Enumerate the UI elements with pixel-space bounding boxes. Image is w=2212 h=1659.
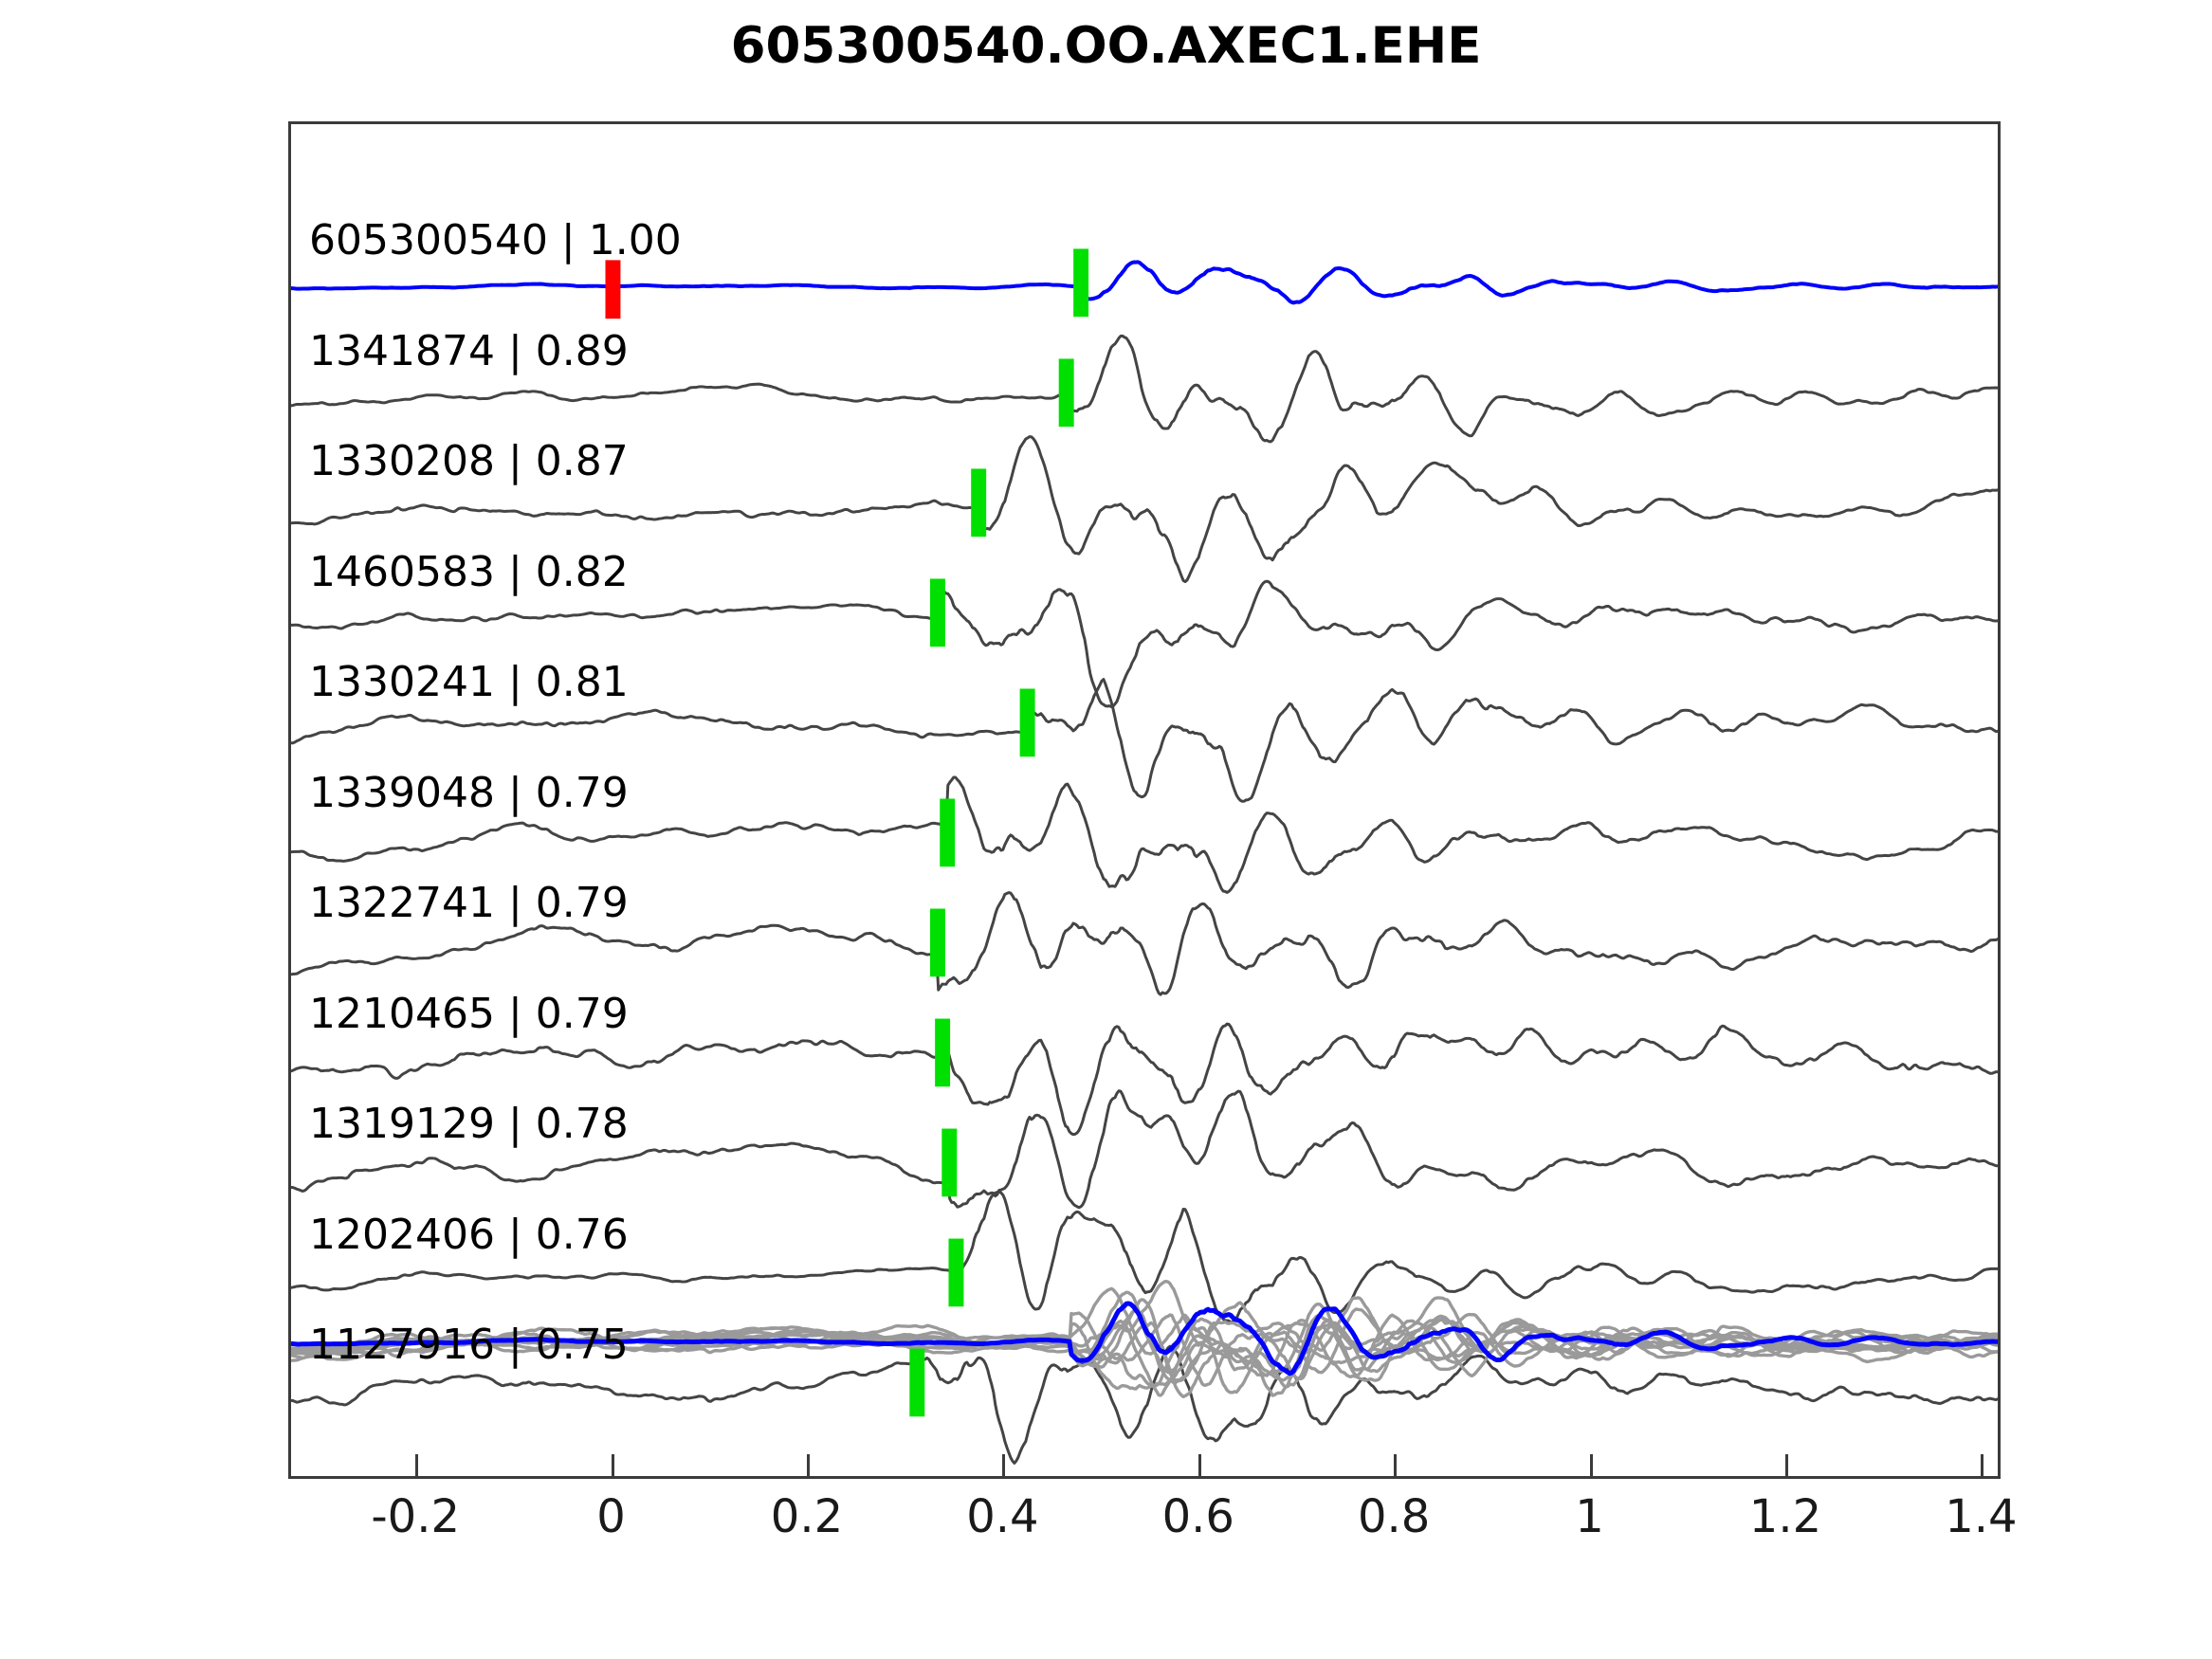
x-tick-mark <box>1394 1454 1397 1479</box>
x-tick-label: 0.4 <box>966 1490 1038 1543</box>
pick-marker <box>948 1239 963 1307</box>
x-tick-label: 0.8 <box>1358 1490 1430 1543</box>
seismogram-figure: 605300540.OO.AXEC1.EHE 605300540 | 1.001… <box>0 0 2212 1659</box>
pick-marker <box>940 799 955 867</box>
plot-area <box>288 121 2001 1479</box>
origin-marker <box>605 260 620 319</box>
detection-waveform <box>291 680 1998 802</box>
x-tick-mark <box>1198 1454 1201 1479</box>
x-tick-label: 1 <box>1575 1490 1604 1543</box>
x-tick-mark <box>1981 1454 1983 1479</box>
waveform-layer <box>291 262 1998 1463</box>
x-tick-mark <box>612 1454 614 1479</box>
x-tick-mark <box>1002 1454 1005 1479</box>
pick-marker <box>971 468 986 537</box>
pick-marker <box>930 909 945 977</box>
pick-marker <box>941 1129 957 1197</box>
x-tick-mark <box>1590 1454 1593 1479</box>
x-axis: -0.200.20.40.60.811.21.4 <box>288 1479 2001 1593</box>
x-tick-label: -0.2 <box>371 1490 460 1543</box>
detection-waveform <box>291 437 1998 582</box>
pick-marker <box>935 1019 950 1087</box>
pick-marker <box>1073 248 1088 317</box>
x-tick-mark <box>415 1454 418 1479</box>
x-tick-label: 0.6 <box>1162 1490 1234 1543</box>
detection-waveform <box>291 1024 1998 1135</box>
waveform-canvas <box>291 124 1998 1476</box>
page-title: 605300540.OO.AXEC1.EHE <box>0 17 2212 75</box>
x-tick-label: 0 <box>596 1490 626 1543</box>
x-tick-label: 1.4 <box>1945 1490 2017 1543</box>
detection-waveform <box>291 1091 1998 1208</box>
x-tick-mark <box>1785 1454 1788 1479</box>
pick-marker <box>909 1349 924 1417</box>
detection-waveform <box>291 893 1998 995</box>
template-waveform <box>291 262 1998 302</box>
pick-marker <box>1020 688 1035 757</box>
x-tick-label: 0.2 <box>771 1490 843 1543</box>
pick-marker <box>1059 358 1074 427</box>
detection-waveform <box>291 581 1998 706</box>
detection-waveform <box>291 1346 1998 1463</box>
x-tick-mark <box>807 1454 810 1479</box>
detection-waveform <box>291 336 1998 442</box>
x-tick-label: 1.2 <box>1749 1490 1821 1543</box>
pick-marker <box>930 578 945 647</box>
